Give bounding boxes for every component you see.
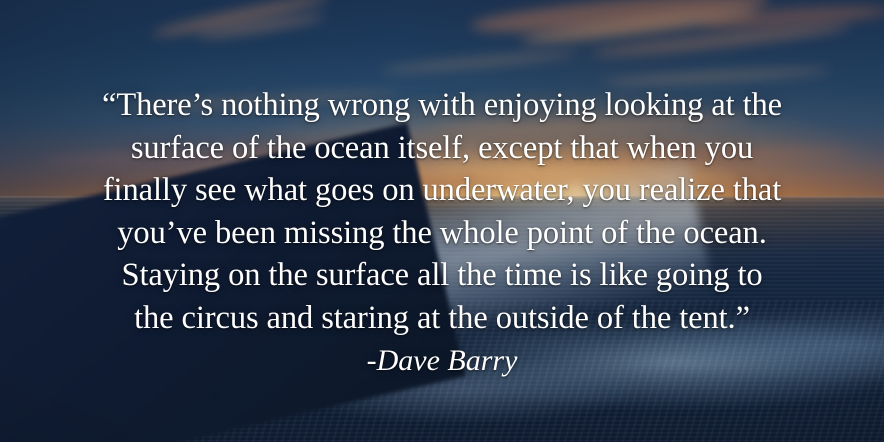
quote-line: surface of the ocean itself, except that…: [8, 127, 876, 170]
quote-text-block: “There’s nothing wrong with enjoying loo…: [0, 84, 884, 382]
quote-attribution: -Dave Barry: [8, 340, 876, 382]
quote-line: Staying on the surface all the time is l…: [8, 254, 876, 297]
quote-line: you’ve been missing the whole point of t…: [8, 212, 876, 255]
quote-line: “There’s nothing wrong with enjoying loo…: [8, 84, 876, 127]
quote-image-canvas: “There’s nothing wrong with enjoying loo…: [0, 0, 884, 442]
quote-line: the circus and staring at the outside of…: [8, 297, 876, 340]
quote-line: finally see what goes on underwater, you…: [8, 169, 876, 212]
